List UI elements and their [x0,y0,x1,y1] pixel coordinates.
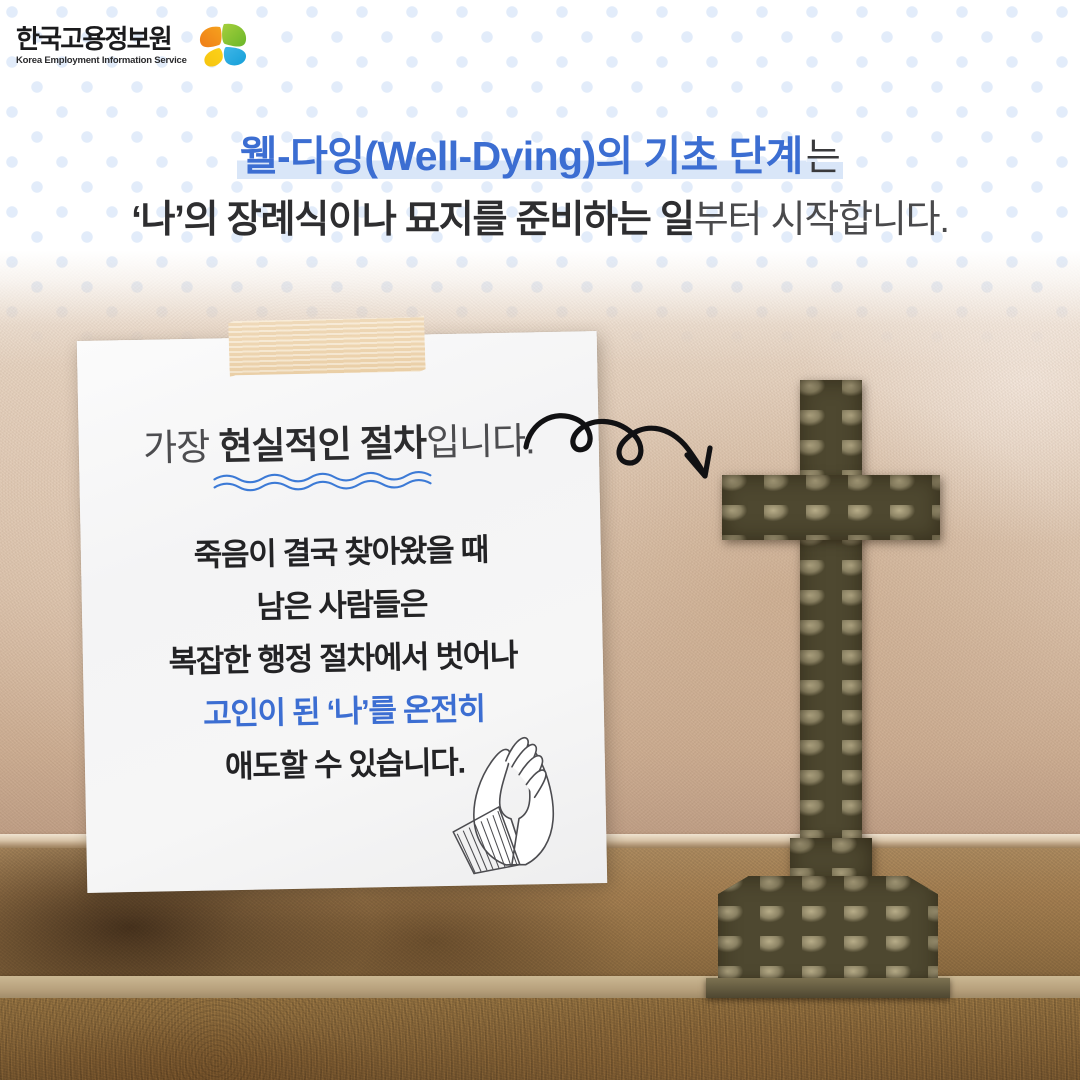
curly-arrow-icon [520,375,750,485]
headline-line2-soft: 부터 시작합니다. [694,199,949,241]
note-title-post: 입니다. [426,420,535,463]
butterfly-leaf-logo-icon [197,20,249,72]
monument-neck [790,838,872,882]
note-title-bold: 현실적인 절차 [218,422,426,467]
brand-name-english: Korea Employment Information Service [16,56,187,66]
cross-horizontal-beam [722,475,940,540]
brand-logo: 한국고용정보원 Korea Employment Information Ser… [16,20,249,72]
wavy-underline-icon [212,467,442,493]
headline-highlight: 웰-다잉(Well-Dying)의 기초 단계 [237,133,806,179]
headline-line1-tail: 는 [806,137,843,179]
headline-line-1: 웰-다잉(Well-Dying)의 기초 단계는 [0,122,1080,182]
note-title-pre: 가장 [143,426,219,468]
monument-base [706,978,950,998]
brand-logo-text: 한국고용정보원 Korea Employment Information Ser… [16,26,187,66]
monument-plinth [718,876,938,990]
headline-line2-strong: ‘나’의 장례식이나 묘지를 준비하는 일 [131,199,694,241]
headline-line-2: ‘나’의 장례식이나 묘지를 준비하는 일부터 시작합니다. [0,188,1080,243]
praying-hands-icon [439,713,582,876]
brand-name-korean: 한국고용정보원 [16,26,187,52]
infographic-card: 한국고용정보원 Korea Employment Information Ser… [0,0,1080,1080]
cross-vertical-beam [800,380,862,850]
washi-tape-icon [228,315,426,377]
headline: 웰-다잉(Well-Dying)의 기초 단계는 ‘나’의 장례식이나 묘지를 … [0,122,1080,243]
